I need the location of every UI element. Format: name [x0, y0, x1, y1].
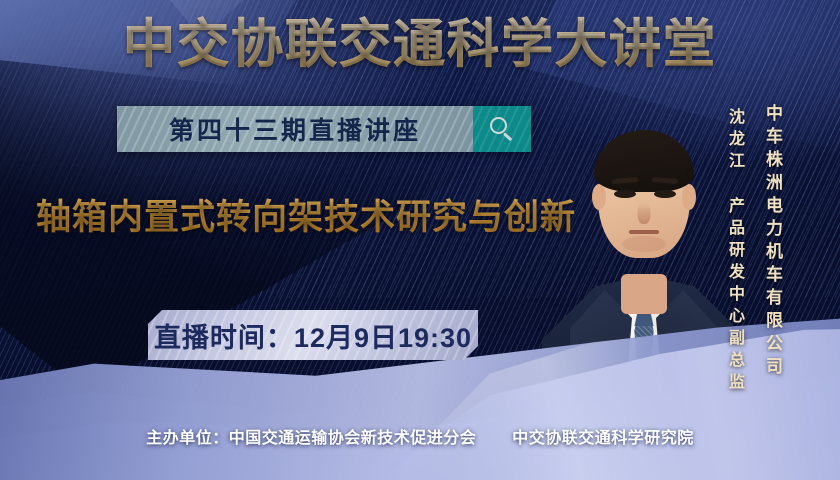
portrait-ear-left	[592, 184, 606, 210]
live-time-text: 直播时间：12月9日19:30	[154, 316, 472, 355]
footer-organizer: 主办单位：中国交通运输协会新技术促进分会	[146, 430, 476, 447]
portrait-nose	[638, 202, 651, 224]
portrait-eye-left	[614, 190, 636, 198]
portrait-ear-right	[682, 184, 696, 210]
search-button[interactable]	[473, 106, 531, 152]
session-badge: 第四十三期直播讲座	[117, 106, 531, 152]
portrait-chin	[622, 236, 666, 252]
footer-organizers: 主办单位：中国交通运输协会新技术促进分会 中交协联交通科学研究院	[0, 424, 840, 448]
portrait-hair	[594, 130, 694, 192]
portrait-mouth	[629, 230, 659, 234]
search-icon	[490, 117, 514, 141]
lecture-headline: 轴箱内置式转向架技术研究与创新	[36, 196, 576, 240]
speaker-organization: 中车株洲电力机车有限公司	[760, 104, 785, 380]
session-label: 第四十三期直播讲座	[169, 111, 421, 147]
live-time-badge: 直播时间：12月9日19:30	[148, 310, 478, 360]
portrait-eye-right	[654, 190, 676, 198]
webinar-poster: 中交协联交通科学大讲堂 第四十三期直播讲座 轴箱内置式转向架技术研究与创新 直播…	[0, 0, 840, 480]
portrait-neck	[621, 274, 667, 314]
session-badge-body: 第四十三期直播讲座	[117, 106, 473, 152]
footer-institute: 中交协联交通科学研究院	[512, 430, 694, 447]
speaker-name-and-role: 沈龙江 产品研发中心副总监	[722, 108, 746, 395]
page-title: 中交协联交通科学大讲堂	[0, 16, 840, 74]
